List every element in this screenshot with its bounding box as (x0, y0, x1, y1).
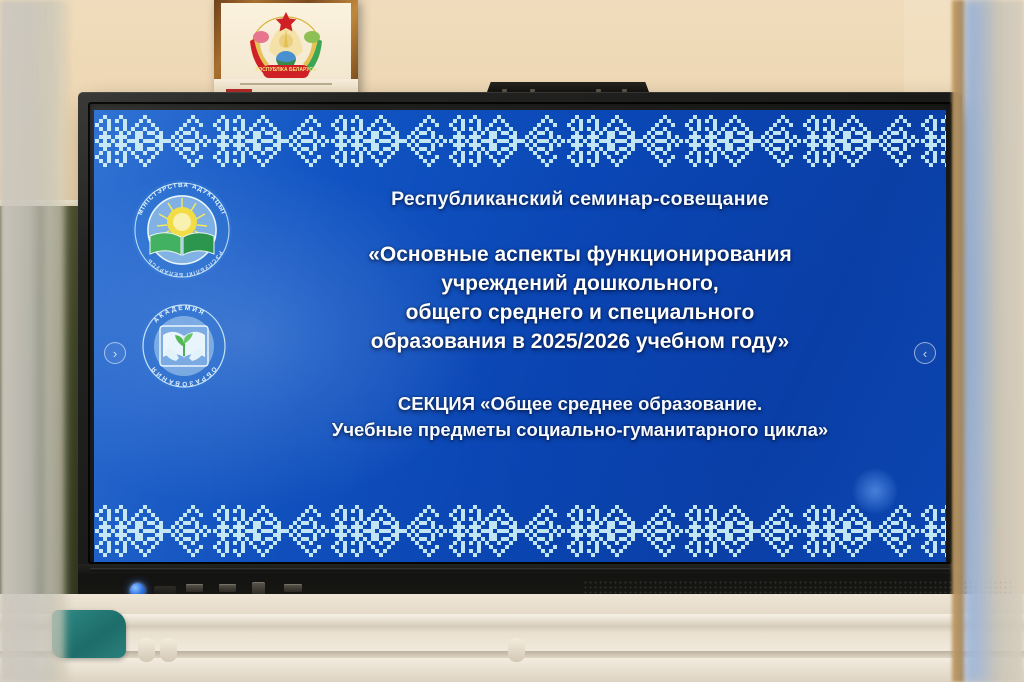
shelf-knob-2 (160, 638, 177, 662)
bezel-groove (90, 568, 950, 571)
window-blur-right (964, 0, 994, 682)
slide-title-line-1: «Основные аспекты функционирования (244, 241, 916, 270)
slide-title-line-3: общего среднего и специального (244, 299, 916, 328)
slide-section-line-2: Учебные предметы социально-гуманитарного… (244, 417, 916, 443)
shelf-knob-3 (508, 638, 525, 662)
radiator-shelf (0, 594, 1024, 682)
chevron-right-icon[interactable]: › (104, 342, 126, 364)
slide-section: СЕКЦИЯ «Общее среднее образование. Учебн… (244, 391, 916, 443)
shelf-lip (0, 614, 1024, 626)
belarus-state-emblem-icon: РЭСПУБЛІКА БЕЛАРУСЬ (221, 3, 351, 89)
slide-title-line-4: образования в 2025/2026 учебном году» (244, 328, 916, 357)
chevron-left-icon[interactable]: ‹ (914, 342, 936, 364)
slide-seminar-line: Республиканский семинар-совещание (244, 188, 916, 211)
emblem-ring-text-1: РЭСПУБЛІКА БЕЛАРУСЬ (255, 67, 317, 73)
screen-glare-spot (852, 468, 898, 514)
belarusian-ornament-bottom (94, 505, 946, 557)
presentation-slide: МІНІСТЭРСТВА АДУКАЦЫІ РЭСПУБЛІКІ БЕЛАРУС… (94, 110, 946, 562)
frame-mat: РЭСПУБЛІКА БЕЛАРУСЬ (221, 3, 351, 89)
classroom-scene: РЭСПУБЛІКА БЕЛАРУСЬ (0, 0, 1024, 682)
port-type-c[interactable] (186, 584, 203, 592)
slide-section-line-1: СЕКЦИЯ «Общее среднее образование. (244, 391, 916, 417)
belarusian-ornament-top (94, 115, 946, 167)
shelf-knob-1 (138, 638, 155, 662)
interactive-flat-panel[interactable]: МІНІСТЭРСТВА АДУКАЦЫІ РЭСПУБЛІКІ БЕЛАРУС… (78, 92, 962, 616)
ministry-of-education-belarus-logo: МІНІСТЭРСТВА АДУКАЦЫІ РЭСПУБЛІКІ БЕЛАРУС… (130, 178, 234, 282)
slide-title: «Основные аспекты функционирования учреж… (244, 241, 916, 357)
slide-title-line-2: учреждений дошкольного, (244, 270, 916, 299)
display-screen[interactable]: МІНІСТЭРСТВА АДУКАЦЫІ РЭСПУБЛІКІ БЕЛАРУС… (94, 110, 946, 562)
academy-of-education-logo: АКАДЕМИЯ ОБРАЗОВАНИЯ (138, 300, 230, 392)
port-hdmi-in[interactable] (284, 584, 302, 592)
door-blur-left (44, 0, 64, 682)
framed-state-emblem: РЭСПУБЛІКА БЕЛАРУСЬ (214, 0, 358, 96)
port-pc-usb[interactable] (219, 584, 236, 592)
door-jamb-right (952, 0, 964, 682)
slide-text-block: Республиканский семинар-совещание «Основ… (244, 188, 916, 443)
